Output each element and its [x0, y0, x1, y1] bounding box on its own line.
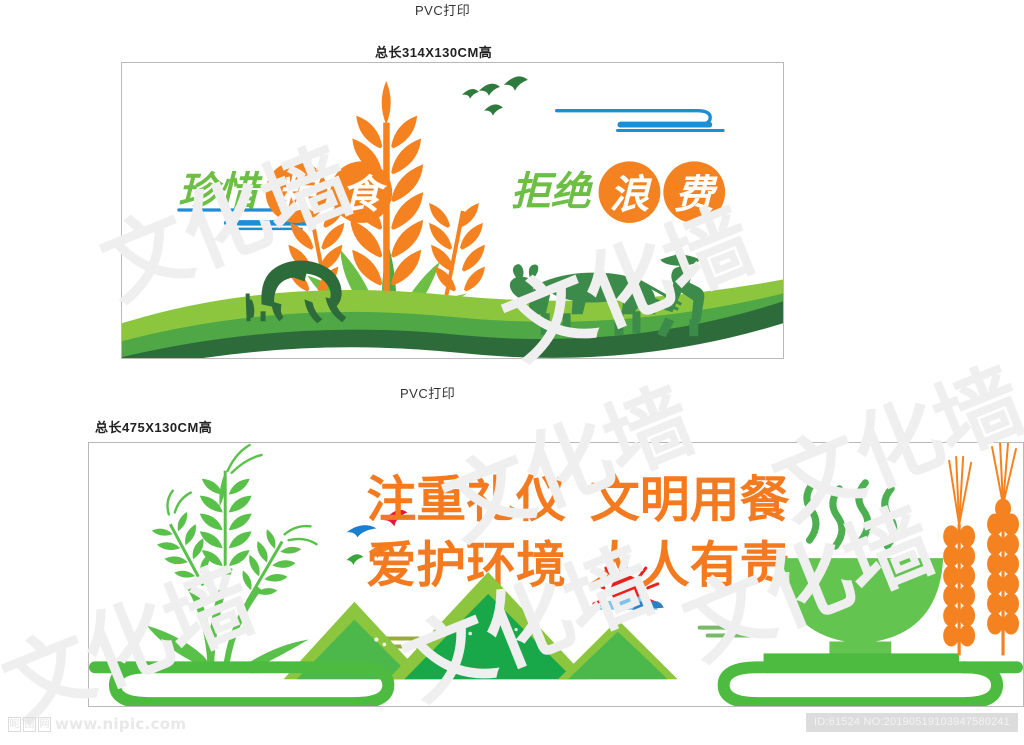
bird-green	[346, 554, 363, 565]
design-proof-canvas: PVC打印 总长314X130CM高 PVC打印 总长475X130CM高	[0, 0, 1024, 745]
panel2-process-caption: PVC打印	[400, 383, 455, 402]
asset-id-badge: ID:61524 NO:20190519103947580241	[806, 713, 1018, 732]
panel2-art-canvas: 注重礼仪 文明用餐 爱护环境 人人有责	[89, 443, 1023, 706]
orange-wheat-ears	[943, 443, 1019, 655]
slogan-left-group: 珍惜 粮 食	[178, 161, 392, 223]
panel-1-artwork: 珍惜 粮 食 拒绝 浪 费	[121, 62, 784, 359]
logo-char-1: 昵	[8, 717, 21, 732]
blue-cloud-swirl-right	[557, 111, 723, 131]
panel1-size-caption: 总长314X130CM高	[375, 42, 492, 61]
slogan-left-badge-1: 粮	[277, 172, 321, 218]
site-logo-mark: 昵 图 网	[8, 717, 51, 732]
slogan-left-badge-2: 食	[341, 172, 387, 218]
slogan-left-plain: 珍惜	[178, 169, 263, 215]
slogan-right-badge-1: 浪	[610, 172, 653, 218]
panel2-slogan: 注重礼仪 文明用餐 爱护环境 人人有责	[366, 471, 789, 594]
green-rice-plants	[121, 445, 317, 673]
green-rice-bowl-with-steam	[764, 483, 960, 668]
flying-birds	[462, 76, 528, 115]
bowl-foot	[829, 641, 891, 655]
site-logo: 昵 图 网 www.nipic.com	[8, 715, 186, 733]
panel1-art-canvas: 珍惜 粮 食 拒绝 浪 费	[122, 63, 783, 358]
steam-lines	[807, 483, 894, 547]
panel2-size-caption: 总长475X130CM高	[95, 417, 212, 436]
slogan-right-badge-2: 费	[674, 172, 718, 218]
slogan-right-plain: 拒绝	[511, 169, 594, 215]
panel-2-artwork: 注重礼仪 文明用餐 爱护环境 人人有责	[88, 442, 1024, 707]
logo-char-3: 网	[38, 717, 51, 732]
slogan-line1-b: 文明用餐	[590, 471, 790, 529]
panel1-process-caption: PVC打印	[415, 0, 470, 19]
slogan-line2-a: 爱护环境	[366, 536, 566, 594]
site-url-text: www.nipic.com	[55, 715, 186, 733]
slogan-line1-a: 注重礼仪	[366, 471, 566, 529]
slogan-right-group: 拒绝 浪 费	[511, 161, 725, 223]
logo-char-2: 图	[23, 717, 36, 732]
